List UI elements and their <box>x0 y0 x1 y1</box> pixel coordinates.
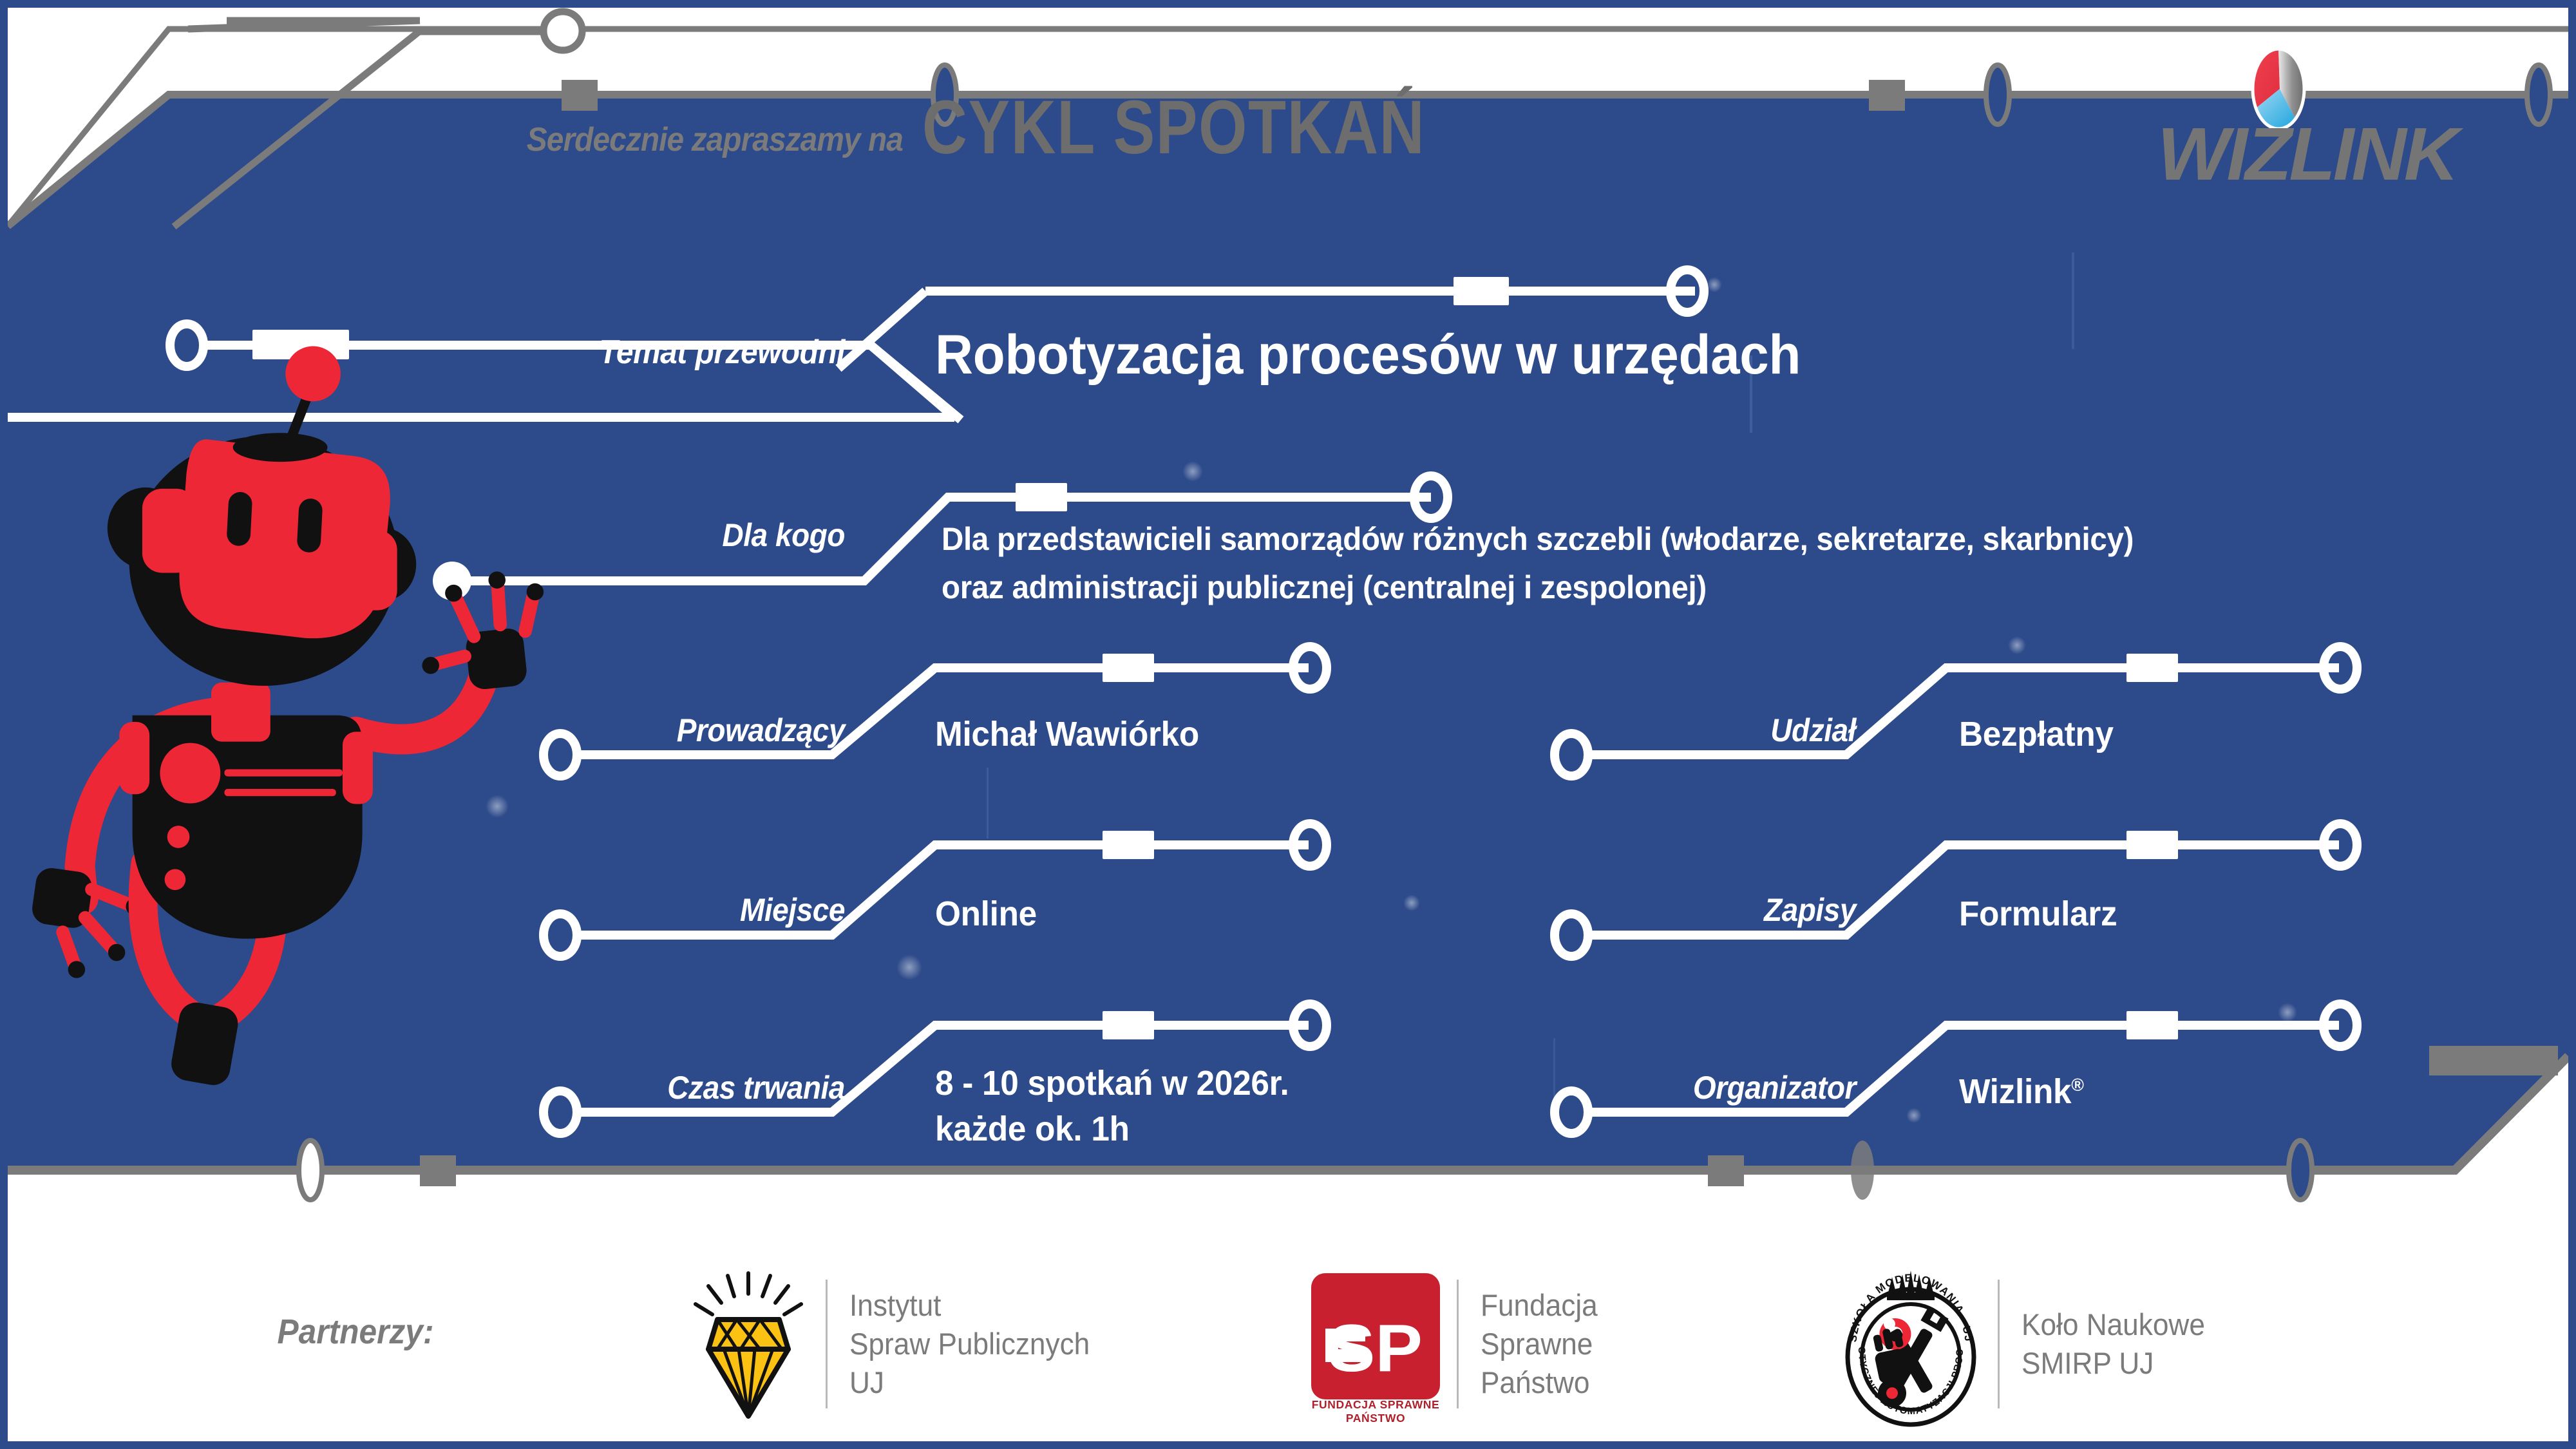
diamond-gem-icon <box>677 1267 819 1421</box>
registered-mark: ® <box>2071 1075 2083 1095</box>
svg-text:SP: SP <box>1328 1311 1423 1385</box>
partner-isp-line1: Instytut <box>849 1286 1090 1325</box>
page-title: CYKL SPOTKAŃ <box>922 84 1425 171</box>
smirp-seal-icon: SZKOŁA MODELOWANIA · UJ I ROBOTYCZNEJ AU… <box>1830 1267 1991 1421</box>
organizator-text: Wizlink <box>1959 1072 2071 1111</box>
poster-inner: Serdecznie zapraszamy na CYKL SPOTKAŃ WI… <box>8 8 2568 1441</box>
partner-fsp-text: Fundacja Sprawne Państwo <box>1481 1286 1598 1401</box>
partner-fsp-line3: Państwo <box>1481 1363 1598 1402</box>
partner-isp: Instytut Spraw Publicznych UJ <box>677 1257 1105 1431</box>
partner-divider <box>1457 1280 1459 1408</box>
partner-fsp-line2: Sprawne <box>1481 1325 1598 1363</box>
fsp-caption: FUNDACJA SPRAWNE PAŃSTWO <box>1298 1398 1453 1425</box>
partner-divider <box>826 1280 828 1408</box>
detail-label-udzial: Udział <box>1388 712 1856 749</box>
detail-value-czas: 8 - 10 spotkań w 2026r. <box>935 1061 1289 1106</box>
detail-label-zapisy: Zapisy <box>1388 891 1856 929</box>
partner-divider <box>1998 1280 2000 1408</box>
invitation-text: Serdecznie zapraszamy na <box>411 120 903 159</box>
detail-label-prowadzacy: Prowadzący <box>371 712 845 749</box>
partner-fsp: SP FUNDACJA SPRAWNE PAŃSTWO Fundacja Spr… <box>1302 1257 1605 1431</box>
partner-fsp-line1: Fundacja <box>1481 1286 1598 1325</box>
detail-value-zapisy: Formularz <box>1959 891 2117 937</box>
detail-label-czas: Czas trwania <box>371 1069 845 1106</box>
detail-label-miejsce: Miejsce <box>371 891 845 929</box>
partners-label: Partnerzy: <box>213 1312 498 1352</box>
audience-value-line1: Dla przedstawicieli samorządów różnych s… <box>942 516 2134 562</box>
partner-smirp-line1: Koło Naukowe <box>2022 1305 2205 1344</box>
partner-smirp-line2: SMIRP UJ <box>2022 1344 2205 1383</box>
detail-value-udzial: Bezpłatny <box>1959 712 2114 757</box>
audience-value-line2: oraz administracji publicznej (centralne… <box>942 565 1707 611</box>
partner-isp-text: Instytut Spraw Publicznych UJ <box>849 1286 1090 1401</box>
wizlink-wordmark: WIZLINK <box>2070 111 2543 197</box>
detail-value-miejsce: Online <box>935 891 1037 937</box>
topic-label: Temat przewodni <box>371 333 845 372</box>
detail-value-prowadzacy: Michał Wawiórko <box>935 712 1199 757</box>
detail-label-organizator: Organizator <box>1388 1069 1856 1106</box>
poster-frame: Serdecznie zapraszamy na CYKL SPOTKAŃ WI… <box>0 0 2576 1449</box>
partner-smirp: SZKOŁA MODELOWANIA · UJ I ROBOTYCZNEJ AU… <box>1830 1257 2217 1431</box>
detail-value-czas-2: każde ok. 1h <box>935 1106 1130 1152</box>
blue-panel <box>8 95 2568 1170</box>
detail-value-organizator: Wizlink® <box>1959 1069 2084 1115</box>
partner-smirp-text: Koło Naukowe SMIRP UJ <box>2022 1305 2205 1382</box>
wizlink-logo: WIZLINK <box>2049 46 2539 182</box>
fsp-square-logo-icon: SP FUNDACJA SPRAWNE PAŃSTWO <box>1302 1267 1450 1421</box>
audience-label: Dla kogo <box>371 516 845 554</box>
topic-value: Robotyzacja procesów w urzędach <box>935 323 1801 387</box>
partner-isp-line3: UJ <box>849 1363 1090 1402</box>
partner-isp-line2: Spraw Publicznych <box>849 1325 1090 1363</box>
